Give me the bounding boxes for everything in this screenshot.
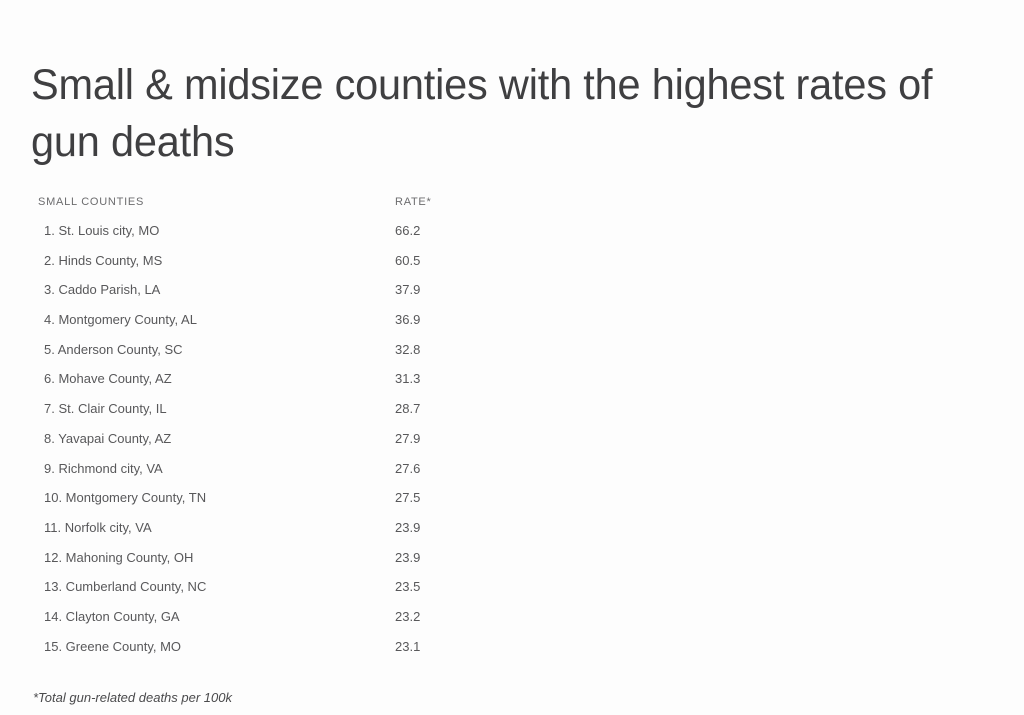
county-name: 10. Montgomery County, TN — [44, 489, 206, 506]
small-counties-rate-header: RATE* — [395, 196, 432, 208]
county-rate-tables: SMALL COUNTIES RATE* 1. St. Louis city, … — [0, 0, 1024, 715]
county-rate-value: 37.9 — [395, 281, 420, 298]
county-name: 15. Greene County, MO — [44, 638, 181, 655]
county-rate-value: 27.6 — [395, 460, 420, 477]
small-counties-name-header: SMALL COUNTIES — [38, 196, 144, 208]
county-rate-value: 23.9 — [395, 519, 420, 536]
county-name: 12. Mahoning County, OH — [44, 549, 193, 566]
county-rate-value: 66.2 — [395, 222, 420, 239]
infographic-page: Small & midsize counties with the highes… — [0, 0, 1024, 715]
county-name: 6. Mohave County, AZ — [44, 370, 172, 387]
county-name: 14. Clayton County, GA — [44, 608, 180, 625]
county-rate-value: 23.5 — [395, 578, 420, 595]
county-rate-value: 27.5 — [395, 489, 420, 506]
county-name: 3. Caddo Parish, LA — [44, 281, 160, 298]
county-name: 1. St. Louis city, MO — [44, 222, 159, 239]
county-name: 2. Hinds County, MS — [44, 252, 162, 269]
county-rate-value: 23.2 — [395, 608, 420, 625]
footnote: *Total gun-related deaths per 100k — [33, 690, 232, 705]
county-rate-value: 23.9 — [395, 549, 420, 566]
county-rate-value: 27.9 — [395, 430, 420, 447]
county-name: 5. Anderson County, SC — [44, 341, 183, 358]
county-name: 13. Cumberland County, NC — [44, 578, 206, 595]
county-name: 7. St. Clair County, IL — [44, 400, 167, 417]
county-name: 4. Montgomery County, AL — [44, 311, 197, 328]
county-rate-value: 32.8 — [395, 341, 420, 358]
county-rate-value: 28.7 — [395, 400, 420, 417]
county-rate-value: 60.5 — [395, 252, 420, 269]
county-name: 11. Norfolk city, VA — [44, 519, 152, 536]
county-rate-value: 23.1 — [395, 638, 420, 655]
county-name: 9. Richmond city, VA — [44, 460, 163, 477]
county-rate-value: 36.9 — [395, 311, 420, 328]
county-rate-value: 31.3 — [395, 370, 420, 387]
county-name: 8. Yavapai County, AZ — [44, 430, 171, 447]
